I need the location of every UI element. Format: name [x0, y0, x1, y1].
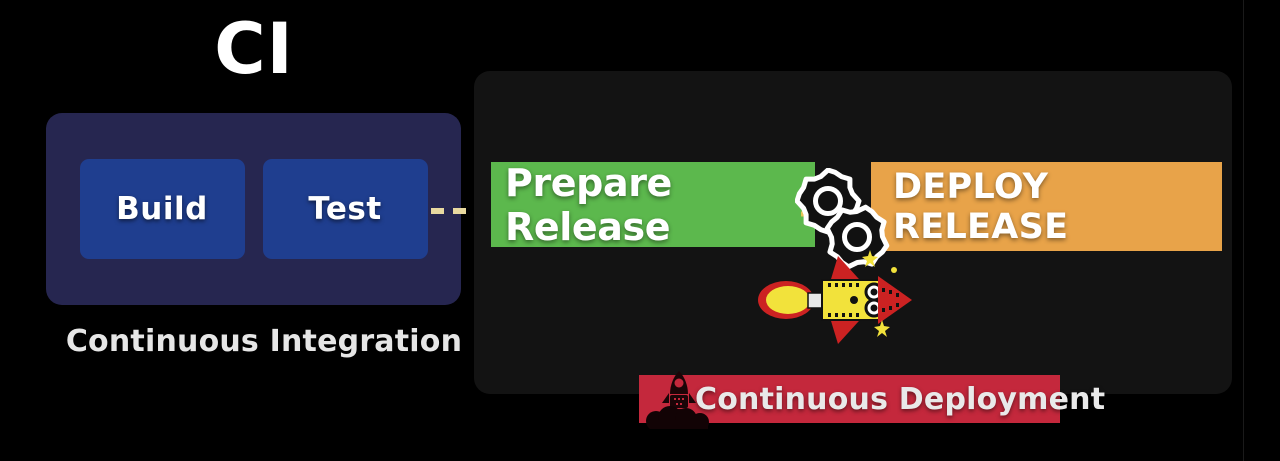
cd-banner[interactable]: Continuous Deployment — [639, 375, 1060, 423]
ci-stage-test-label: Test — [308, 191, 381, 227]
cd-bar-prepare-release-label: Prepare Release — [505, 161, 815, 249]
cd-bar-prepare-release[interactable]: Prepare Release — [491, 162, 815, 247]
ci-container: Build Test — [46, 113, 461, 305]
ci-stage-build[interactable]: Build — [80, 159, 245, 259]
ci-stage-build-label: Build — [116, 191, 208, 227]
ci-stage-test[interactable]: Test — [263, 159, 428, 259]
cd-bar-deploy-release[interactable]: DEPLOY RELEASE — [871, 162, 1222, 251]
diagram-canvas: CI Build Test Continuous Integration Pre… — [0, 0, 1280, 461]
cd-banner-label: Continuous Deployment — [695, 382, 1105, 417]
ci-caption: Continuous Integration — [0, 324, 528, 359]
ci-heading: CI — [0, 14, 508, 84]
cd-bar-deploy-release-label: DEPLOY RELEASE — [893, 167, 1222, 247]
right-edge-rule — [1243, 0, 1244, 461]
sparkle-stars-icon — [860, 248, 940, 348]
